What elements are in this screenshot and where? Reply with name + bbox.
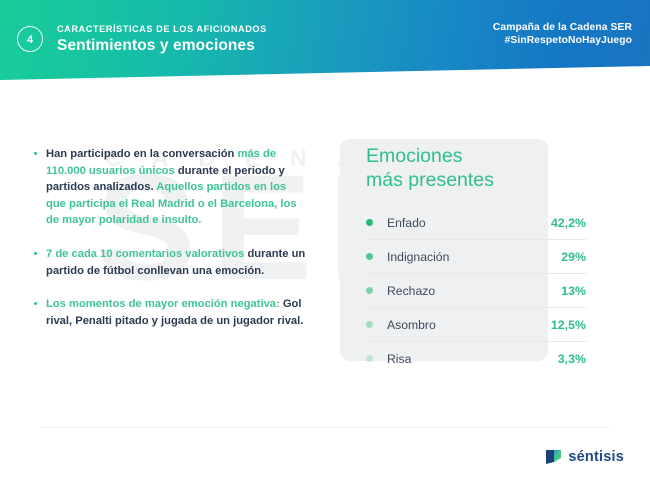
list-item-text-segment: Han participado en la conversación (46, 148, 238, 160)
table-row: Asombro12,5% (366, 308, 586, 342)
emotion-percentage: 12,5% (551, 318, 586, 332)
table-row: Enfado42,2% (366, 206, 586, 240)
section-number-badge: 4 (17, 26, 43, 52)
table-row: Risa3,3% (366, 342, 586, 375)
campaign-hashtag: #SinRespetoNoHayJuego (493, 35, 632, 46)
list-item: Los momentos de mayor emoción negativa: … (34, 296, 306, 329)
emotion-label: Risa (387, 352, 558, 366)
emotion-marker-icon (366, 355, 373, 362)
emotions-panel-title: Emociones más presentes (366, 144, 494, 192)
emotion-percentage: 42,2% (551, 216, 586, 230)
header-eyebrow: CARACTERÍSTICAS DE LOS AFICIONADOS (57, 24, 267, 34)
bullet-dot-icon (34, 252, 37, 255)
header-campaign-block: Campaña de la Cadena SER #SinRespetoNoHa… (493, 22, 632, 46)
page-title: Sentimientos y emociones (57, 37, 255, 55)
emotion-percentage: 13% (561, 284, 586, 298)
sentisis-logo-icon (545, 449, 562, 465)
key-findings-list: Han participado en la conversación más d… (34, 146, 306, 346)
emotion-marker-icon (366, 287, 373, 294)
emotions-table: Enfado42,2%Indignación29%Rechazo13%Asomb… (366, 206, 586, 375)
sentisis-logo-text: séntisis (568, 449, 624, 465)
emotion-marker-icon (366, 219, 373, 226)
footer-divider (40, 427, 610, 428)
emotion-label: Rechazo (387, 284, 561, 298)
emotion-percentage: 3,3% (558, 352, 586, 366)
emotion-label: Asombro (387, 318, 551, 332)
emotions-panel-title-line2: más presentes (366, 168, 494, 192)
emotion-marker-icon (366, 253, 373, 260)
table-row: Rechazo13% (366, 274, 586, 308)
emotion-marker-icon (366, 321, 373, 328)
emotions-panel-title-line1: Emociones (366, 144, 494, 168)
sentisis-logo: séntisis (545, 449, 624, 465)
list-item-text-segment: Los momentos de mayor emoción negativa: (46, 298, 283, 310)
bullet-dot-icon (34, 302, 37, 305)
table-row: Indignación29% (366, 240, 586, 274)
campaign-name: Campaña de la Cadena SER (493, 22, 632, 33)
list-item: Han participado en la conversación más d… (34, 146, 306, 229)
emotion-label: Enfado (387, 216, 551, 230)
list-item-text-segment: 7 de cada 10 comentarios valorativos (46, 248, 247, 260)
emotion-label: Indignación (387, 250, 561, 264)
slide: 4 CARACTERÍSTICAS DE LOS AFICIONADOS Sen… (0, 0, 650, 487)
bullet-dot-icon (34, 152, 37, 155)
list-item: 7 de cada 10 comentarios valorativos dur… (34, 246, 306, 279)
emotion-percentage: 29% (561, 250, 586, 264)
